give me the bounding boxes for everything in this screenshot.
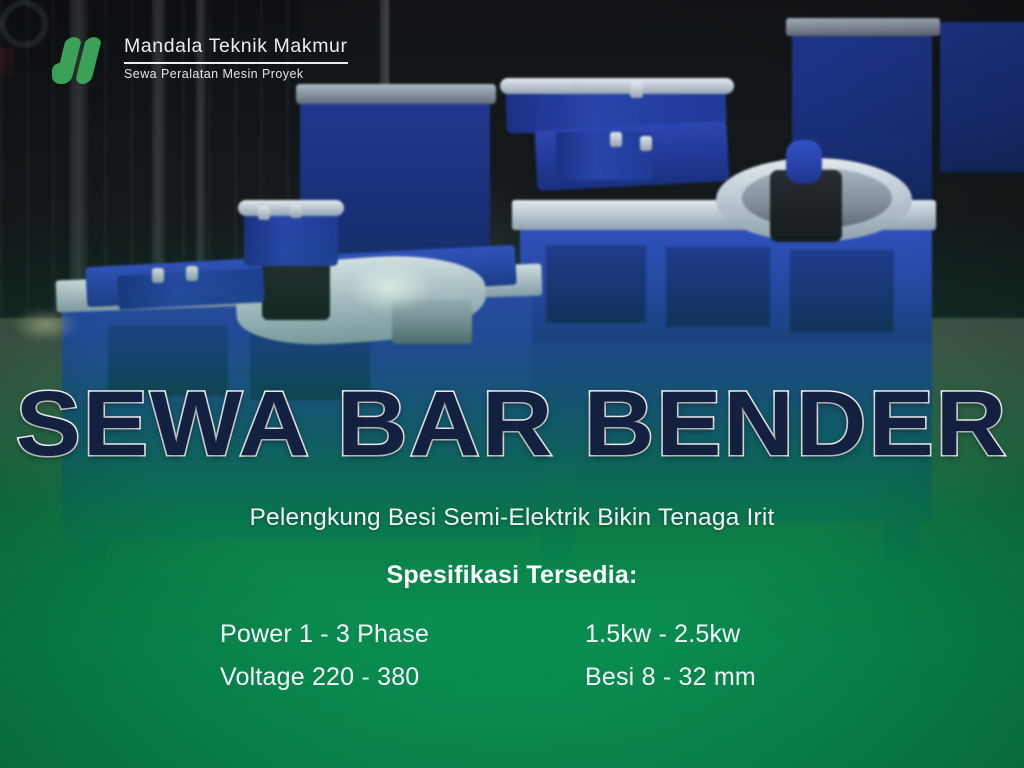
brand-divider-rule	[124, 62, 348, 64]
spec-heading: Spesifikasi Tersedia:	[0, 561, 1024, 590]
brand-logo-lockup[interactable]: Mandala Teknik Makmur Sewa Peralatan Mes…	[48, 30, 348, 85]
spec-label: Power 1 - 3 Phase	[220, 620, 585, 649]
brand-text-block: Mandala Teknik Makmur Sewa Peralatan Mes…	[124, 35, 348, 81]
mandala-m-logo-icon	[48, 30, 110, 85]
hero-subtitle: Pelengkung Besi Semi-Elektrik Bikin Tena…	[0, 504, 1024, 532]
spec-value: 1.5kw - 2.5kw	[585, 620, 820, 649]
spec-label: Voltage 220 - 380	[220, 663, 585, 692]
brand-name: Mandala Teknik Makmur	[124, 35, 348, 61]
brand-tagline: Sewa Peralatan Mesin Proyek	[124, 67, 348, 81]
promo-poster: Mandala Teknik Makmur Sewa Peralatan Mes…	[0, 0, 1024, 768]
hero-headline: SEWA BAR BENDER	[0, 378, 1024, 470]
spec-value: Besi 8 - 32 mm	[585, 663, 820, 692]
spec-grid: Power 1 - 3 Phase 1.5kw - 2.5kw Voltage …	[220, 620, 820, 692]
